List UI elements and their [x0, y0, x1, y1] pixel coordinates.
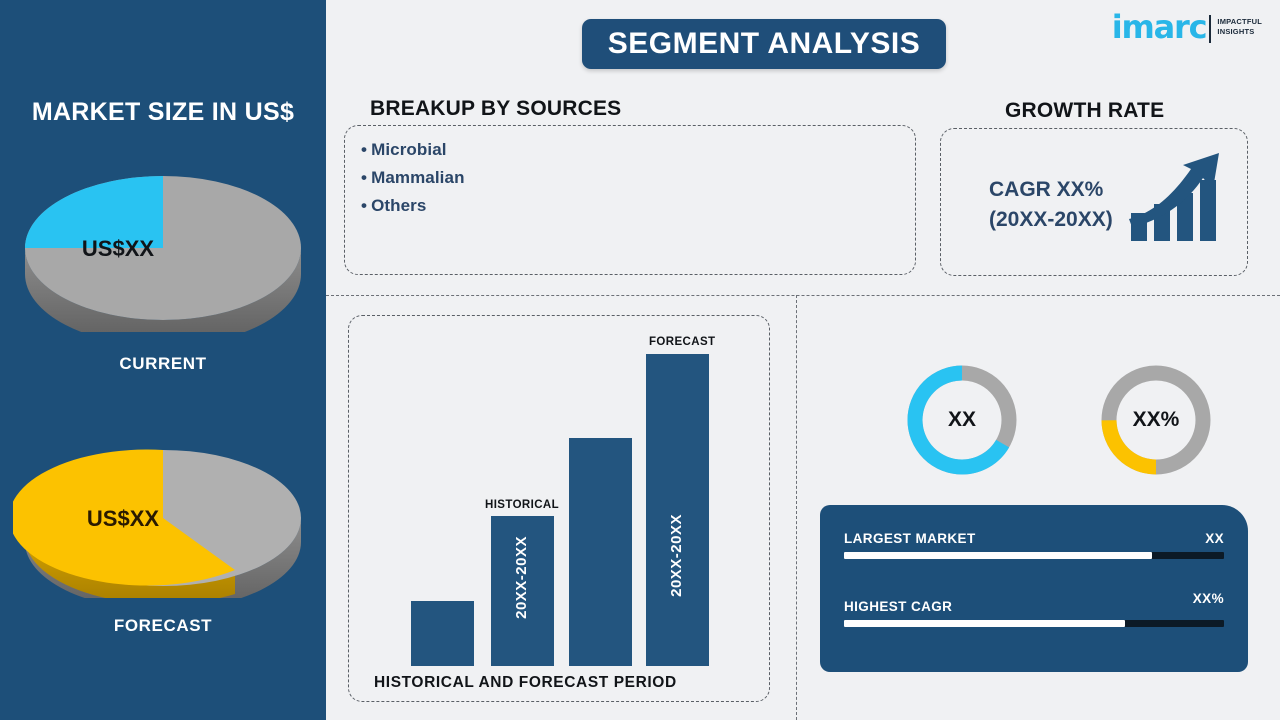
highest-cagr-progress-track	[844, 620, 1224, 627]
breakup-by-sources-title: BREAKUP BY SOURCES	[370, 97, 621, 121]
bar-2-period-label: 20XX-20XX	[513, 536, 530, 619]
forecast-pie-chart: US$XX	[13, 438, 313, 598]
current-pie-value: US$XX	[82, 236, 154, 261]
list-item: •Microbial	[361, 136, 465, 164]
largest-market-progress-fill	[844, 552, 1152, 559]
current-pie-group: US$XX CURRENT	[0, 152, 326, 374]
bullet-icon: •	[361, 196, 367, 215]
logo-divider	[1209, 15, 1211, 43]
cagr-text: CAGR XX% (20XX-20XX)	[989, 175, 1113, 235]
current-pie-label: CURRENT	[0, 354, 326, 374]
growth-rate-title: GROWTH RATE	[1005, 99, 1164, 123]
growth-arrow-bars-icon	[1127, 147, 1227, 247]
largest-market-progress-track	[844, 552, 1224, 559]
bar-4-period-label: 20XX-20XX	[668, 514, 685, 597]
highest-cagr-value: XX%	[1193, 591, 1224, 606]
forecast-pie-group: US$XX FORECAST	[0, 438, 326, 636]
list-item: •Mammalian	[361, 164, 465, 192]
bullet-icon: •	[361, 140, 367, 159]
largest-market-value: XX	[1205, 531, 1224, 546]
imarc-logo: imarc IMPACTFUL INSIGHTS	[1112, 13, 1262, 43]
bar-3	[569, 438, 632, 666]
page-title-text: SEGMENT ANALYSIS	[608, 27, 921, 61]
breakup-list: •Microbial •Mammalian •Others	[361, 136, 465, 220]
bullet-icon: •	[361, 168, 367, 187]
bar-4: 20XX-20XX	[646, 354, 709, 666]
historical-annotation: HISTORICAL	[485, 499, 559, 511]
historical-forecast-chart-box: 20XX-20XX 20XX-20XX HISTORICAL FORECAST …	[348, 315, 770, 702]
forecast-pie-value: US$XX	[87, 506, 159, 531]
list-item-label: Mammalian	[371, 168, 465, 187]
list-item: •Others	[361, 192, 465, 220]
growth-rate-box: CAGR XX% (20XX-20XX)	[940, 128, 1248, 276]
bar-1	[411, 601, 474, 666]
chart-x-axis-title: HISTORICAL AND FORECAST PERIOD	[374, 674, 677, 692]
logo-tagline-line1: IMPACTFUL	[1217, 17, 1262, 27]
current-pie-chart: US$XX	[13, 152, 313, 332]
market-size-title: MARKET SIZE IN US$	[0, 98, 326, 127]
largest-market-donut-value: XX	[889, 408, 1035, 432]
segment-analysis-panel: SEGMENT ANALYSIS imarc IMPACTFUL INSIGHT…	[326, 0, 1280, 720]
forecast-annotation: FORECAST	[649, 336, 715, 348]
logo-tagline: IMPACTFUL INSIGHTS	[1217, 17, 1262, 37]
infographic-canvas: MARKET SIZE IN US$ US$XX CURRENT	[0, 0, 1280, 720]
highest-cagr-label: HIGHEST CAGR	[844, 599, 952, 614]
vertical-divider	[796, 295, 797, 720]
logo-wordmark: imarc	[1112, 13, 1207, 41]
highest-cagr-donut-value: XX%	[1083, 408, 1229, 432]
forecast-pie-label: FORECAST	[0, 616, 326, 636]
bar-2: 20XX-20XX	[491, 516, 554, 666]
market-size-panel: MARKET SIZE IN US$ US$XX CURRENT	[0, 0, 326, 720]
page-title: SEGMENT ANALYSIS	[582, 19, 946, 69]
logo-tagline-line2: INSIGHTS	[1217, 27, 1262, 37]
largest-market-label: LARGEST MARKET	[844, 531, 976, 546]
cagr-value: CAGR XX%	[989, 175, 1113, 205]
market-stats-card: LARGEST MARKET XX HIGHEST CAGR XX%	[820, 505, 1248, 672]
breakup-by-sources-box: •Microbial •Mammalian •Others	[344, 125, 916, 275]
cagr-period: (20XX-20XX)	[989, 205, 1113, 235]
list-item-label: Microbial	[371, 140, 447, 159]
list-item-label: Others	[371, 196, 426, 215]
highest-cagr-progress-fill	[844, 620, 1125, 627]
horizontal-divider	[326, 295, 1280, 296]
